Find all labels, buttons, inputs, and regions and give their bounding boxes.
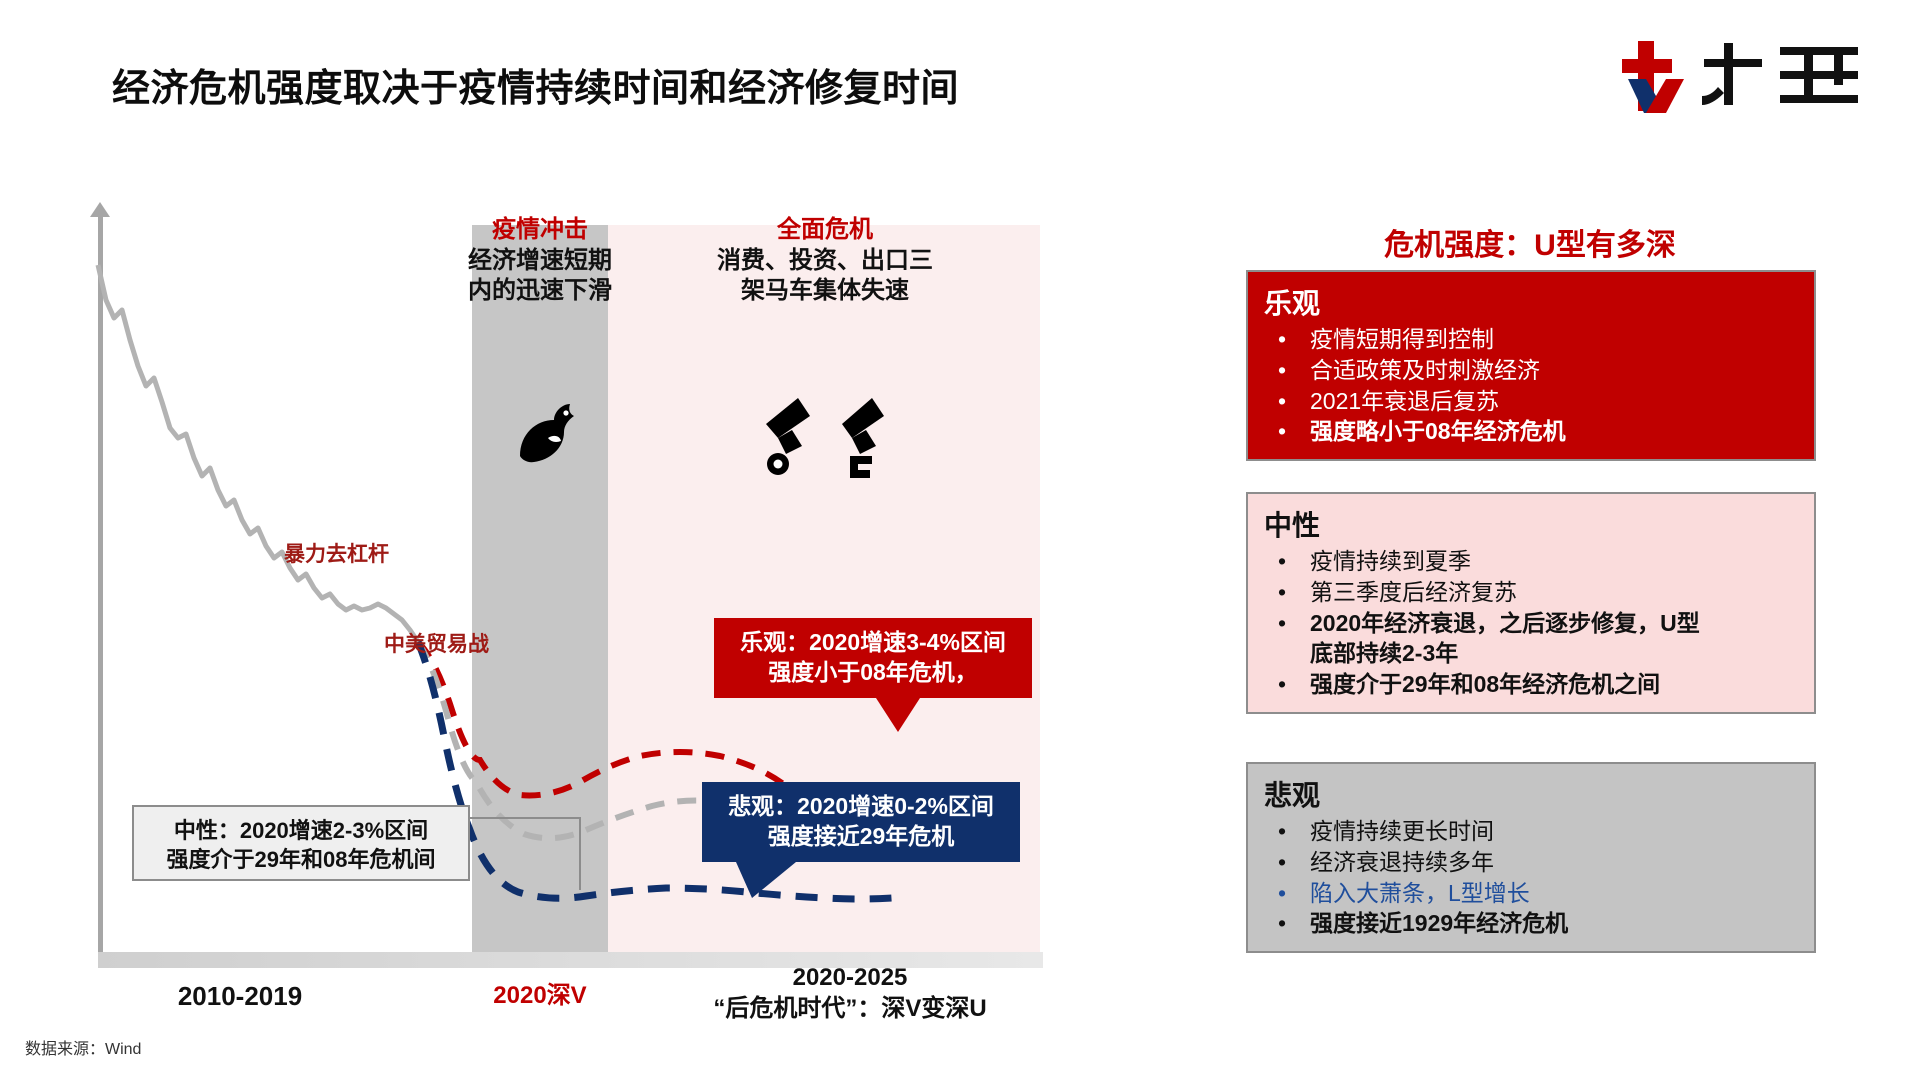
scenario-title-pessimistic: 悲观 <box>1264 774 1798 814</box>
scenario-box-optimistic: 乐观 •疫情短期得到控制 •合适政策及时刺激经济 •2021年衰退后复苏 •强度… <box>1246 270 1816 461</box>
bullet-text: 陷入大萧条，L型增长 <box>1310 880 1530 906</box>
series-history <box>98 265 418 642</box>
callout-neutral: 中性：2020增速2-3%区间 强度介于29年和08年危机间 <box>132 805 470 881</box>
list-item-continuation: •底部持续2-3年 <box>1264 638 1798 669</box>
band-shock-title: 疫情冲击 <box>420 215 660 246</box>
bullet-icon: • <box>1278 669 1286 700</box>
source-note: 数据来源：Wind <box>25 1035 141 1059</box>
annotation-trade-war: 中美贸易战 <box>384 628 489 658</box>
black-swan-icon <box>512 398 588 474</box>
list-item: •陷入大萧条，L型增长 <box>1264 878 1798 909</box>
callout-pessimistic-tail <box>736 862 796 898</box>
scenario-box-pessimistic: 悲观 •疫情持续更长时间 •经济衰退持续多年 •陷入大萧条，L型增长 •强度接近… <box>1246 762 1816 953</box>
bullet-text: 经济衰退持续多年 <box>1310 849 1494 875</box>
bullet-text: 2021年衰退后复苏 <box>1310 388 1499 414</box>
bullet-text: 第三季度后经济复苏 <box>1310 579 1517 605</box>
callout-pessimistic-line2: 强度接近29年危机 <box>716 822 1006 852</box>
logo-wordmark <box>1702 43 1858 105</box>
x-axis-label-period3-line2: “后危机时代”：深V变深U <box>640 993 1060 1024</box>
callout-pessimistic-line1: 悲观：2020增速0-2%区间 <box>716 792 1006 822</box>
bullet-icon: • <box>1278 577 1286 608</box>
callout-optimistic-line2: 强度小于08年危机， <box>728 658 1018 688</box>
panel-heading: 危机强度：U型有多深 <box>1250 220 1810 264</box>
bullet-icon: • <box>1278 386 1286 417</box>
bullet-icon: • <box>1278 324 1286 355</box>
list-item: •强度介于29年和08年经济危机之间 <box>1264 669 1798 700</box>
callout-neutral-line1: 中性：2020增速2-3%区间 <box>148 817 454 846</box>
band-crisis-line1: 消费、投资、出口三 <box>660 246 990 277</box>
bullet-text: 强度介于29年和08年经济危机之间 <box>1310 671 1660 697</box>
bullet-text: 疫情持续到夏季 <box>1310 548 1471 574</box>
scenario-bullets-optimistic: •疫情短期得到控制 •合适政策及时刺激经济 •2021年衰退后复苏 •强度略小于… <box>1264 324 1798 447</box>
bullet-icon: • <box>1278 546 1286 577</box>
bullet-text: 疫情持续更长时间 <box>1310 818 1494 844</box>
neutral-callout-leader <box>470 818 580 890</box>
list-item: •2020年经济衰退，之后逐步修复，U型 <box>1264 608 1798 639</box>
callout-pessimistic: 悲观：2020增速0-2%区间 强度接近29年危机 <box>702 782 1020 862</box>
bullet-icon: • <box>1278 847 1286 878</box>
scenario-box-neutral: 中性 •疫情持续到夏季 •第三季度后经济复苏 •2020年经济衰退，之后逐步修复… <box>1246 492 1816 714</box>
list-item: •第三季度后经济复苏 <box>1264 577 1798 608</box>
list-item: •疫情持续更长时间 <box>1264 816 1798 847</box>
bullet-text: 疫情短期得到控制 <box>1310 326 1494 352</box>
brand-logo <box>1620 33 1870 118</box>
band-crisis-title: 全面危机 <box>660 215 990 246</box>
bullet-text: 强度接近1929年经济危机 <box>1310 910 1568 936</box>
callout-optimistic-line1: 乐观：2020增速3-4%区间 <box>728 628 1018 658</box>
page-title: 经济危机强度取决于疫情持续时间和经济修复时间 <box>112 57 1212 112</box>
bullet-icon: • <box>1278 878 1286 909</box>
band-shock-line2: 内的迅速下滑 <box>420 276 660 307</box>
x-axis-label-period2: 2020深V <box>460 980 620 1011</box>
x-axis-label-period1: 2010-2019 <box>80 980 400 1014</box>
list-item: •强度接近1929年经济危机 <box>1264 908 1798 939</box>
callout-optimistic: 乐观：2020增速3-4%区间 强度小于08年危机， <box>714 618 1032 698</box>
bullet-text: 合适政策及时刺激经济 <box>1310 357 1540 383</box>
bullet-icon: • <box>1278 608 1286 639</box>
logo-mark-icon <box>1622 41 1684 113</box>
bullet-text: 底部持续2-3年 <box>1310 640 1458 666</box>
list-item: •强度略小于08年经济危机 <box>1264 416 1798 447</box>
bullet-icon: • <box>1278 416 1286 447</box>
list-item: •合适政策及时刺激经济 <box>1264 355 1798 386</box>
list-item: •疫情短期得到控制 <box>1264 324 1798 355</box>
band-crisis-line2: 架马车集体失速 <box>660 276 990 307</box>
band-caption-crisis: 全面危机 消费、投资、出口三 架马车集体失速 <box>660 215 990 307</box>
list-item: •经济衰退持续多年 <box>1264 847 1798 878</box>
bullet-icon: • <box>1278 355 1286 386</box>
band-caption-shock: 疫情冲击 经济增速短期 内的迅速下滑 <box>420 215 660 307</box>
x-axis-label-period3-line1: 2020-2025 <box>640 962 1060 993</box>
scenario-title-neutral: 中性 <box>1264 504 1798 544</box>
scenario-bullets-pessimistic: •疫情持续更长时间 •经济衰退持续多年 •陷入大萧条，L型增长 •强度接近192… <box>1264 816 1798 939</box>
bullet-text: 2020年经济衰退，之后逐步修复，U型 <box>1310 610 1700 636</box>
x-axis-label-period3: 2020-2025 “后危机时代”：深V变深U <box>640 962 1060 1024</box>
scenario-title-optimistic: 乐观 <box>1264 282 1798 322</box>
bullet-text: 强度略小于08年经济危机 <box>1310 418 1566 444</box>
callout-neutral-line2: 强度介于29年和08年危机间 <box>148 846 454 875</box>
list-item: •疫情持续到夏季 <box>1264 546 1798 577</box>
bullet-icon: • <box>1278 816 1286 847</box>
list-item: •2021年衰退后复苏 <box>1264 386 1798 417</box>
bullet-icon: • <box>1278 908 1286 939</box>
callout-optimistic-tail <box>876 698 920 732</box>
band-shock-line1: 经济增速短期 <box>420 246 660 277</box>
annotation-deleverage: 暴力去杠杆 <box>284 538 389 568</box>
scenario-bullets-neutral: •疫情持续到夏季 •第三季度后经济复苏 •2020年经济衰退，之后逐步修复，U型… <box>1264 546 1798 700</box>
megaphone-icon <box>758 390 898 482</box>
